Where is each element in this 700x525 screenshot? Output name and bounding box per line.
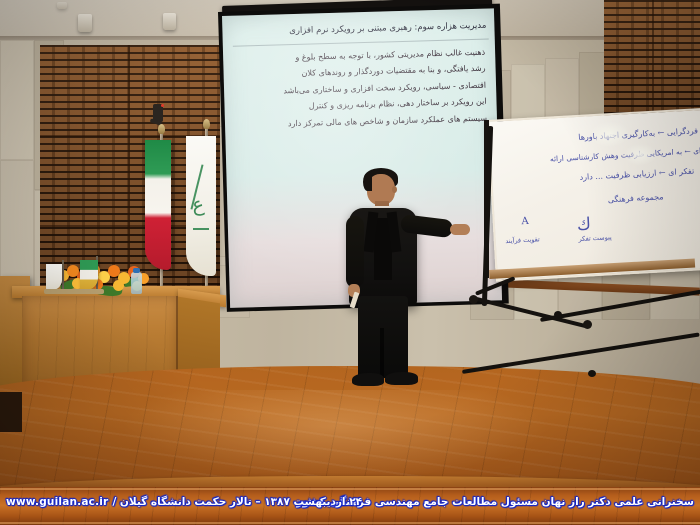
caption-bar-top-rule — [0, 488, 700, 490]
whiteboard-diagram-mark: ك — [576, 214, 591, 235]
slide-body: ذهنیت غالب نظام مدیریتی کشور، با توجه به… — [235, 45, 487, 134]
flagpole-finial-icon — [203, 119, 210, 129]
flagpole-finial-icon — [158, 124, 165, 134]
university-emblem-icon: ﻉ — [191, 191, 205, 216]
photo-canvas: مدیریت هزاره سوم: رهبری مبتنی بر رویکرد … — [0, 0, 700, 525]
bouquet-bloom — [113, 280, 124, 291]
ceiling-spotlight-1 — [78, 14, 92, 32]
presenter-ear — [392, 186, 397, 193]
whiteboard-line-2: ای ← به امریکایی ظرفیت وهش کارشناسی ارائ… — [550, 146, 700, 163]
caption-bar-bottom-rule — [0, 522, 700, 524]
ceiling-spotlight-2 — [163, 13, 176, 30]
presenter-arm-left — [346, 216, 364, 288]
whiteboard-note-left: تقویت فرآیند — [505, 235, 540, 245]
desk-flag-iran — [80, 260, 98, 290]
desk-flag-pole — [62, 260, 64, 292]
water-bottle-cap — [133, 268, 140, 273]
wall-tile — [0, 40, 34, 160]
presenter-hand-right — [450, 224, 470, 235]
mic-led-icon — [161, 104, 164, 107]
wall-tile — [0, 160, 34, 290]
whiteboard-line-4: مجموعه فرهنگی — [608, 192, 664, 204]
cable-connector — [588, 370, 596, 377]
whiteboard-note-A: A — [521, 216, 529, 227]
presenter-trouser-leg-gap — [380, 328, 384, 378]
flag-emblem-stroke — [193, 228, 209, 230]
presenter-shoe-left — [352, 373, 384, 386]
caption-bar: سخنرانی علمی دکتر راز نهان مسئول مطالعات… — [0, 487, 700, 525]
presenter-hair-side — [363, 173, 372, 191]
caption-date-venue: ۲۴ اردیبهشت ۱۳۸۷ – تالار حکمت دانشگاه گی… — [112, 496, 362, 508]
water-bottle — [131, 272, 142, 294]
whiteboard-line-1: فردگرایی ← به‌کارگیری اجتهاد باورها — [578, 126, 698, 142]
desk-flag-base — [44, 289, 104, 294]
ceiling-spotlight-3 — [57, 2, 67, 9]
caption-website-url: www.guilan.ac.ir — [6, 496, 108, 508]
whiteboard: فردگرایی ← به‌کارگیری اجتهاد باورها ای ←… — [487, 108, 700, 282]
desk-flag-university — [46, 264, 62, 290]
flag-university: ﻉ — [186, 136, 216, 276]
slide-title: مدیریت هزاره سوم: رهبری مبتنی بر رویکرد … — [236, 21, 486, 39]
whiteboard-line-3: تفکر ای ← ارزیابی ظرفیت ... دارد — [579, 167, 694, 182]
under-stage-shadow — [0, 392, 22, 432]
presenter — [330, 168, 500, 396]
whiteboard-assembly: فردگرایی ← به‌کارگیری اجتهاد باورها ای ←… — [487, 120, 700, 310]
lecture-hall-room: مدیریت هزاره سوم: رهبری مبتنی بر رویکرد … — [0, 0, 700, 525]
whiteboard-caster — [583, 320, 592, 329]
flag-iran — [145, 140, 171, 270]
presenter-shoe-right — [385, 372, 418, 385]
caption-date-venue-text: ۲۴ اردیبهشت ۱۳۸۷ – تالار حکمت دانشگاه گی… — [112, 496, 362, 508]
